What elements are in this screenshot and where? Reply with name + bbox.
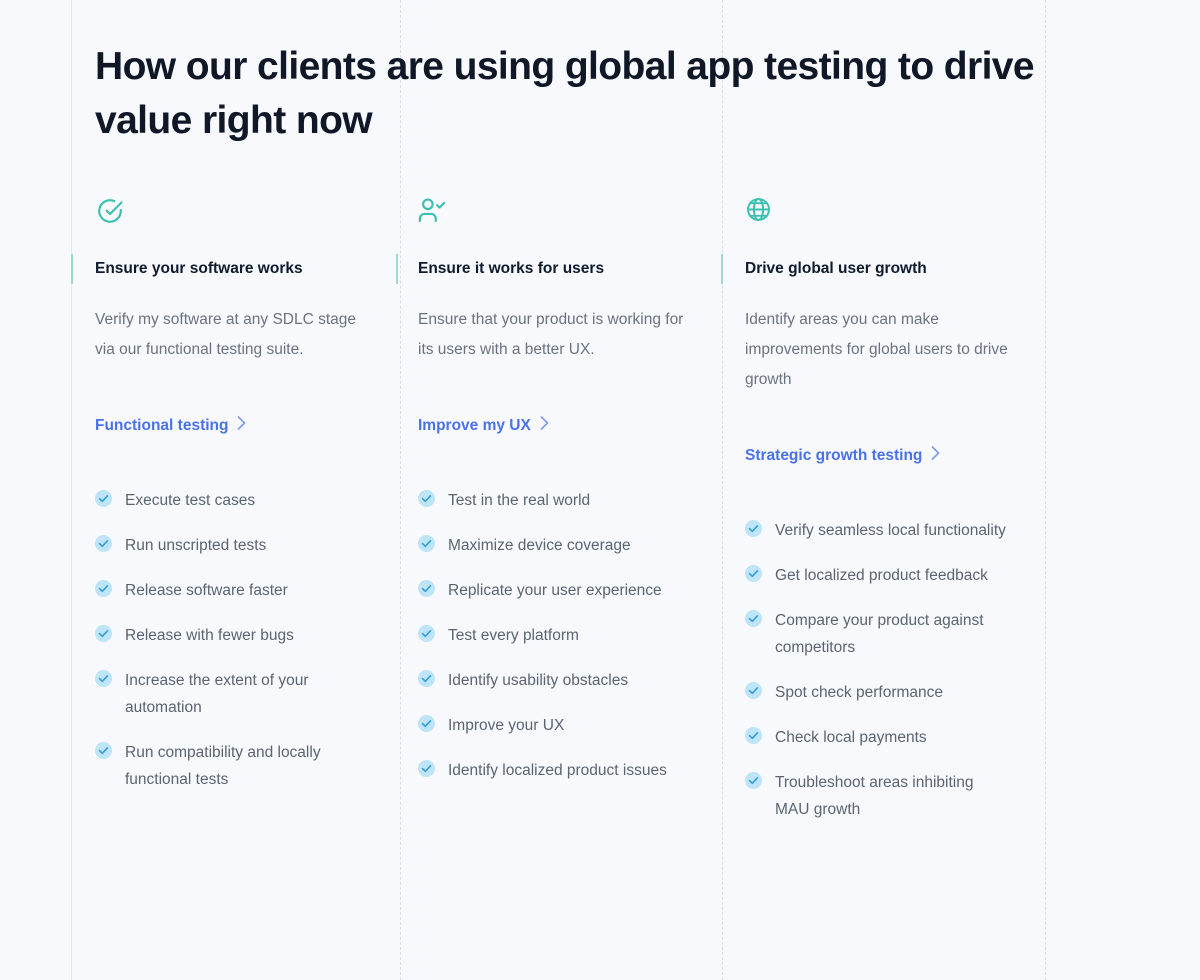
list-item: Release with fewer bugs — [95, 622, 378, 649]
list-item-label: Spot check performance — [775, 679, 943, 706]
list-item: Run unscripted tests — [95, 532, 378, 559]
list-item-label: Maximize device coverage — [448, 532, 631, 559]
card-heading: Ensure it works for users — [418, 259, 703, 279]
check-circle-icon — [95, 196, 378, 230]
list-item: Identify localized product issues — [418, 757, 703, 784]
list-item-label: Identify localized product issues — [448, 757, 667, 784]
check-badge-icon — [418, 715, 435, 732]
check-badge-icon — [745, 565, 762, 582]
list-item-label: Troubleshoot areas inhibiting MAU growth — [775, 769, 1007, 823]
list-item-label: Improve your UX — [448, 712, 564, 739]
list-item-label: Release software faster — [125, 577, 288, 604]
check-badge-icon — [745, 520, 762, 537]
card-description: Ensure that your product is working for … — [418, 305, 703, 365]
list-item: Test every platform — [418, 622, 703, 649]
check-badge-icon — [418, 625, 435, 642]
list-item: Release software faster — [95, 577, 378, 604]
list-item: Spot check performance — [745, 679, 1028, 706]
accent-bar — [71, 254, 73, 284]
chevron-right-icon — [540, 416, 549, 435]
list-item: Get localized product feedback — [745, 562, 1028, 589]
list-item-label: Increase the extent of your automation — [125, 667, 375, 721]
chevron-right-icon — [237, 416, 246, 435]
card-heading: Ensure your software works — [95, 259, 378, 279]
check-badge-icon — [95, 535, 112, 552]
user-check-icon — [418, 196, 703, 230]
card-heading: Drive global user growth — [745, 259, 1028, 279]
cta-link-improve-my-ux[interactable]: Improve my UX — [418, 416, 549, 435]
check-badge-icon — [95, 670, 112, 687]
feature-columns: Ensure your software works Verify my sof… — [71, 196, 1046, 823]
card-heading-text: Ensure it works for users — [418, 260, 604, 277]
check-badge-icon — [418, 535, 435, 552]
list-item-label: Identify usability obstacles — [448, 667, 628, 694]
cta-label: Strategic growth testing — [745, 447, 922, 465]
list-item: Replicate your user experience — [418, 577, 703, 604]
list-item: Increase the extent of your automation — [95, 667, 378, 721]
check-badge-icon — [418, 580, 435, 597]
list-item: Test in the real world — [418, 487, 703, 514]
list-item: Run compatibility and locally functional… — [95, 739, 378, 793]
accent-bar — [721, 254, 723, 284]
list-item-label: Check local payments — [775, 724, 927, 751]
list-item: Identify usability obstacles — [418, 667, 703, 694]
accent-bar — [396, 254, 398, 284]
cta-label: Functional testing — [95, 417, 228, 435]
cta-link-strategic-growth-testing[interactable]: Strategic growth testing — [745, 446, 940, 465]
list-item-label: Release with fewer bugs — [125, 622, 294, 649]
card-heading-text: Ensure your software works — [95, 260, 303, 277]
list-item: Troubleshoot areas inhibiting MAU growth — [745, 769, 1028, 823]
list-item-label: Test in the real world — [448, 487, 590, 514]
list-item-label: Compare your product against competitors — [775, 607, 1007, 661]
check-badge-icon — [745, 727, 762, 744]
list-item-label: Run compatibility and locally functional… — [125, 739, 375, 793]
checklist: Verify seamless local functionality Get … — [745, 517, 1028, 823]
check-badge-icon — [745, 610, 762, 627]
list-item-label: Execute test cases — [125, 487, 255, 514]
globe-icon — [745, 196, 1028, 230]
list-item: Improve your UX — [418, 712, 703, 739]
check-badge-icon — [745, 682, 762, 699]
checklist: Execute test cases Run unscripted tests … — [95, 487, 378, 793]
list-item: Execute test cases — [95, 487, 378, 514]
check-badge-icon — [418, 760, 435, 777]
list-item: Compare your product against competitors — [745, 607, 1028, 661]
feature-column-software: Ensure your software works Verify my sof… — [71, 196, 396, 823]
list-item: Check local payments — [745, 724, 1028, 751]
cta-label: Improve my UX — [418, 417, 531, 435]
page-root: How our clients are using global app tes… — [0, 0, 1200, 980]
card-description: Identify areas you can make improvements… — [745, 305, 1028, 395]
page-title: How our clients are using global app tes… — [95, 40, 1045, 148]
list-item-label: Test every platform — [448, 622, 579, 649]
list-item: Verify seamless local functionality — [745, 517, 1028, 544]
list-item: Maximize device coverage — [418, 532, 703, 559]
feature-column-growth: Drive global user growth Identify areas … — [721, 196, 1046, 823]
feature-column-users: Ensure it works for users Ensure that yo… — [396, 196, 721, 823]
check-badge-icon — [95, 490, 112, 507]
list-item-label: Verify seamless local functionality — [775, 517, 1006, 544]
check-badge-icon — [95, 580, 112, 597]
cta-link-functional-testing[interactable]: Functional testing — [95, 416, 246, 435]
check-badge-icon — [418, 670, 435, 687]
chevron-right-icon — [931, 446, 940, 465]
card-description: Verify my software at any SDLC stage via… — [95, 305, 378, 365]
check-badge-icon — [95, 742, 112, 759]
card-heading-text: Drive global user growth — [745, 260, 927, 277]
checklist: Test in the real world Maximize device c… — [418, 487, 703, 784]
list-item-label: Run unscripted tests — [125, 532, 266, 559]
list-item-label: Get localized product feedback — [775, 562, 988, 589]
list-item-label: Replicate your user experience — [448, 577, 662, 604]
check-badge-icon — [418, 490, 435, 507]
check-badge-icon — [745, 772, 762, 789]
check-badge-icon — [95, 625, 112, 642]
